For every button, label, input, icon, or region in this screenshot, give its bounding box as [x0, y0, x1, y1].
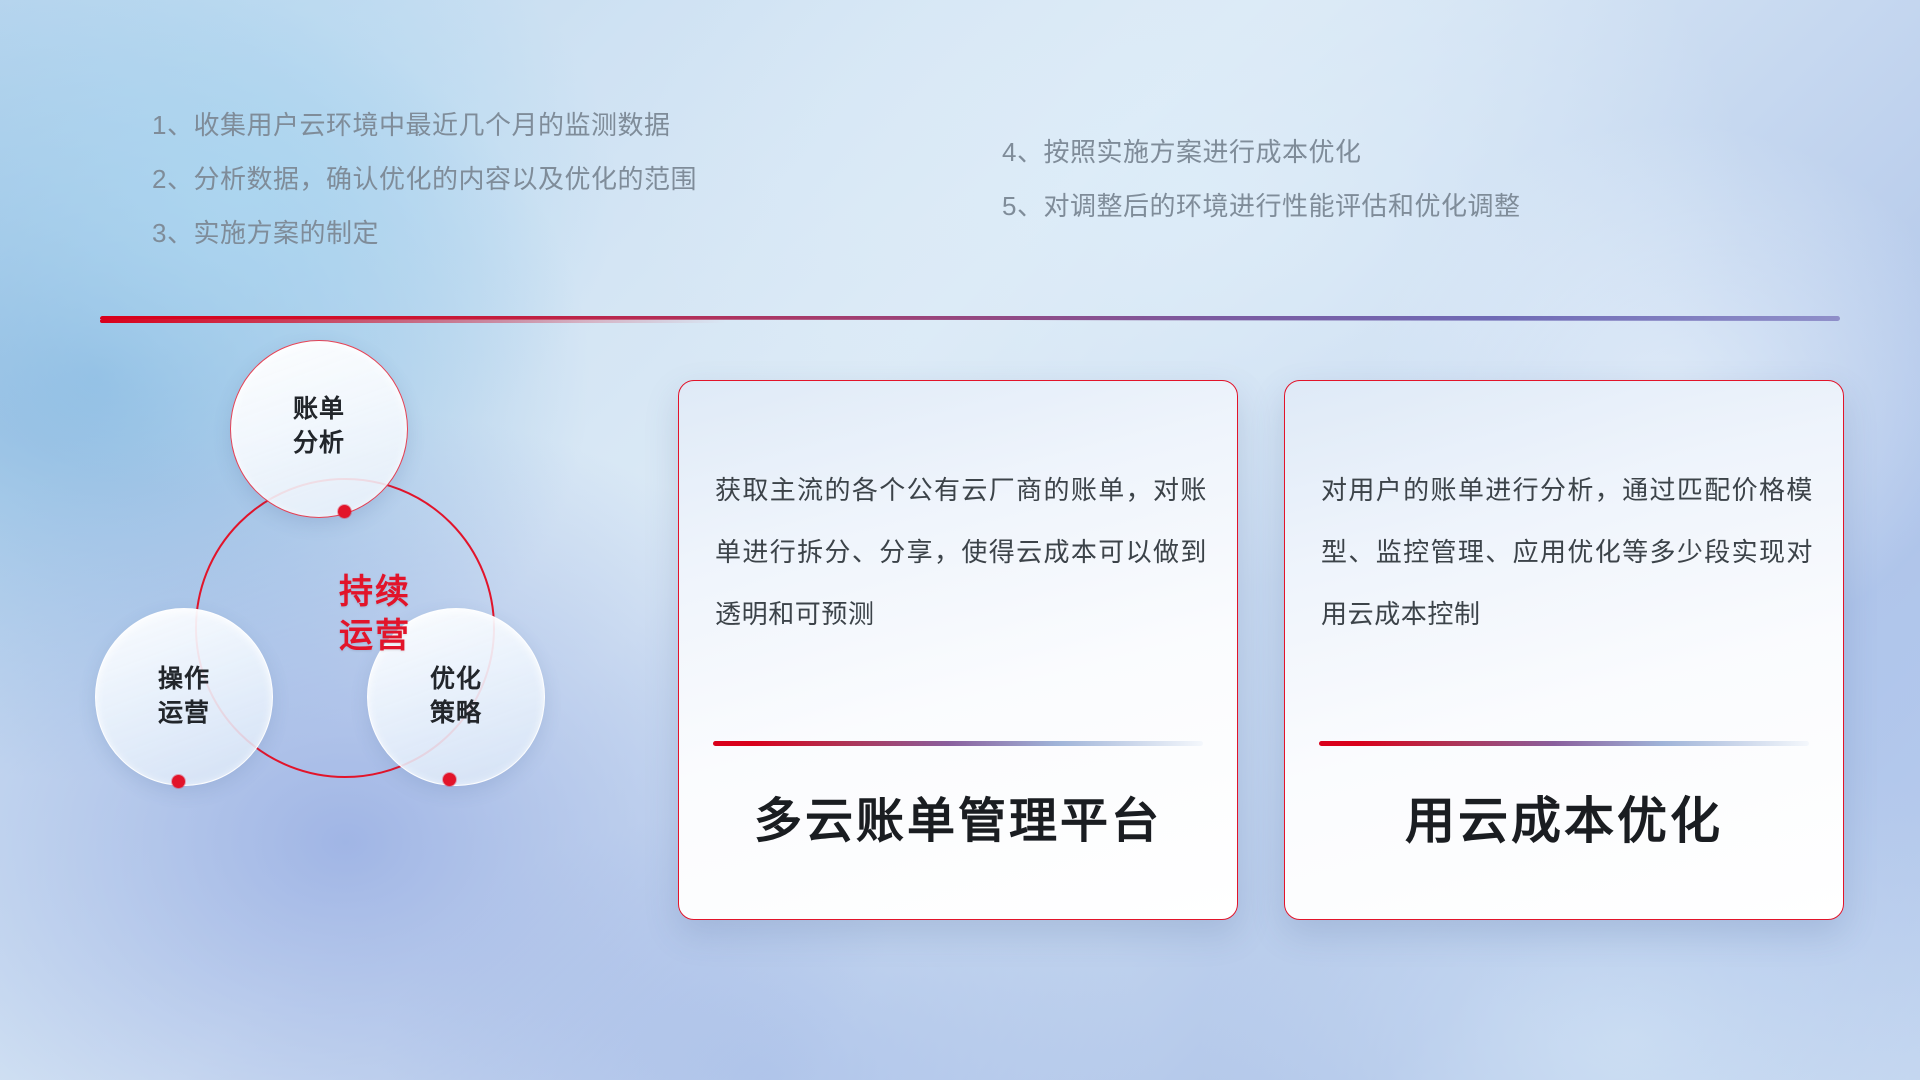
venn-label-optimization-strategy-line1: 优化 [367, 662, 545, 696]
step-item-5: 5、对调整后的环境进行性能评估和优化调整 [1002, 179, 1520, 233]
venn-label-operations-line1: 操作 [95, 662, 273, 696]
venn-label-center-line2: 运营 [300, 614, 450, 658]
card-cloud-cost-optimization[interactable]: 对用户的账单进行分析，通过匹配价格模型、监控管理、应用优化等多少段实现对用云成本… [1284, 380, 1844, 920]
card-2-title: 用云成本优化 [1285, 781, 1843, 853]
step-item-3: 3、实施方案的制定 [152, 206, 697, 260]
venn-label-billing-analysis: 账单 分析 [230, 392, 408, 460]
venn-label-operations-line2: 运营 [95, 696, 273, 730]
steps-section: 1、收集用户云环境中最近几个月的监测数据 2、分析数据，确认优化的内容以及优化的… [0, 0, 1920, 260]
step-item-4: 4、按照实施方案进行成本优化 [1002, 125, 1520, 179]
step-item-2: 2、分析数据，确认优化的内容以及优化的范围 [152, 152, 697, 206]
venn-node-dot-bottom-right [443, 773, 456, 786]
steps-right-column: 4、按照实施方案进行成本优化 5、对调整后的环境进行性能评估和优化调整 [1002, 125, 1520, 233]
divider-red-tail [100, 319, 726, 323]
venn-label-billing-analysis-line2: 分析 [230, 426, 408, 460]
card-1-divider [713, 741, 1203, 746]
venn-label-operations: 操作 运营 [95, 662, 273, 730]
venn-label-center-line1: 持续 [300, 570, 450, 614]
venn-node-dot-bottom-left [172, 775, 185, 788]
venn-node-dot-top [338, 505, 351, 518]
venn-label-billing-analysis-line1: 账单 [230, 392, 408, 426]
card-2-divider [1319, 741, 1809, 746]
card-multi-cloud-billing-platform[interactable]: 获取主流的各个公有云厂商的账单，对账单进行拆分、分享，使得云成本可以做到透明和可… [678, 380, 1238, 920]
venn-label-center: 持续 运营 [300, 570, 450, 658]
card-1-body-text: 获取主流的各个公有云厂商的账单，对账单进行拆分、分享，使得云成本可以做到透明和可… [715, 459, 1207, 645]
section-divider [100, 312, 1840, 326]
card-1-title: 多云账单管理平台 [679, 781, 1237, 851]
step-item-1: 1、收集用户云环境中最近几个月的监测数据 [152, 98, 697, 152]
steps-left-column: 1、收集用户云环境中最近几个月的监测数据 2、分析数据，确认优化的内容以及优化的… [152, 98, 697, 260]
venn-diagram: 账单 分析 操作 运营 优化 策略 持续 运营 [95, 340, 565, 930]
venn-label-optimization-strategy-line2: 策略 [367, 696, 545, 730]
card-2-body-text: 对用户的账单进行分析，通过匹配价格模型、监控管理、应用优化等多少段实现对用云成本… [1321, 459, 1813, 645]
venn-label-optimization-strategy: 优化 策略 [367, 662, 545, 730]
